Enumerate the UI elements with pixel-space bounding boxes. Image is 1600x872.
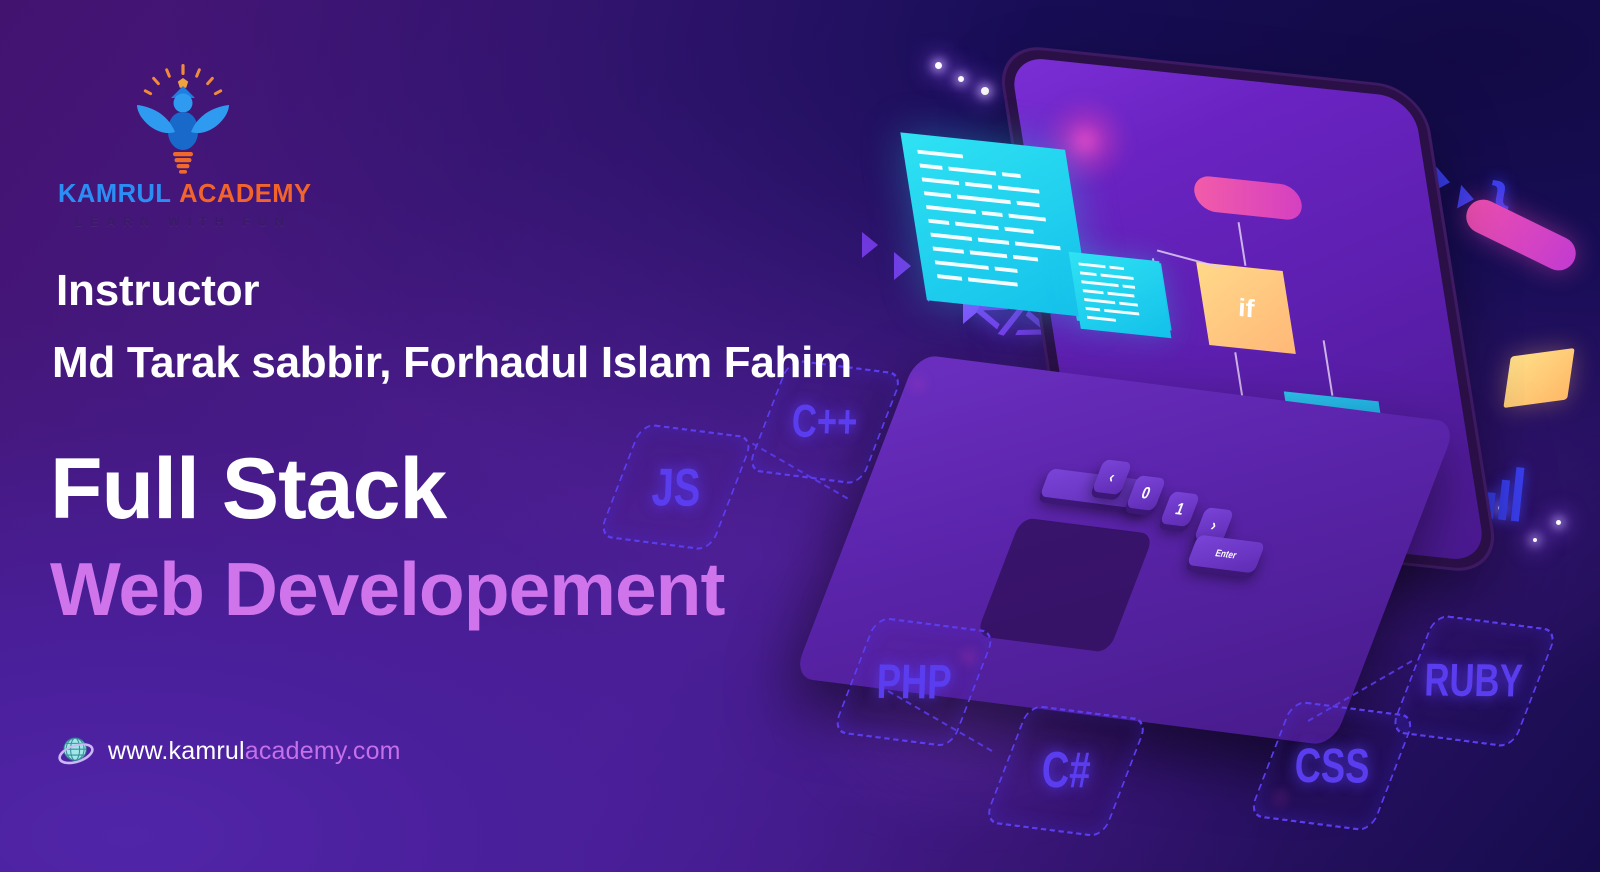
globe-icon [56,734,96,768]
brand-wordmark: KAMRUL ACADEMY [58,180,308,209]
course-title-line2: Web Developement [50,552,724,627]
kamrul-academy-bird-bulb-logo-icon [133,62,233,174]
website-link[interactable]: www.kamrulacademy.com [56,734,401,768]
instructor-names: Md Tarak sabbir, Forhadul Islam Fahim [52,338,852,388]
brand-tagline: LEARN WITH FUN [58,214,308,229]
website-url-prefix: www.kamrul [108,737,245,765]
content-layer: KAMRUL ACADEMY LEARN WITH FUN Instructor… [0,0,1600,872]
brand-name-part2: ACADEMY [179,180,311,208]
instructor-label: Instructor [56,266,259,316]
website-url[interactable]: www.kamrulacademy.com [108,737,401,766]
brand-logo[interactable]: KAMRUL ACADEMY LEARN WITH FUN [58,62,308,229]
website-url-suffix: academy.com [245,737,401,765]
brand-name-part1: KAMRUL [58,180,171,208]
course-banner: </> { } if [0,0,1600,872]
course-title-line1: Full Stack [50,446,446,532]
